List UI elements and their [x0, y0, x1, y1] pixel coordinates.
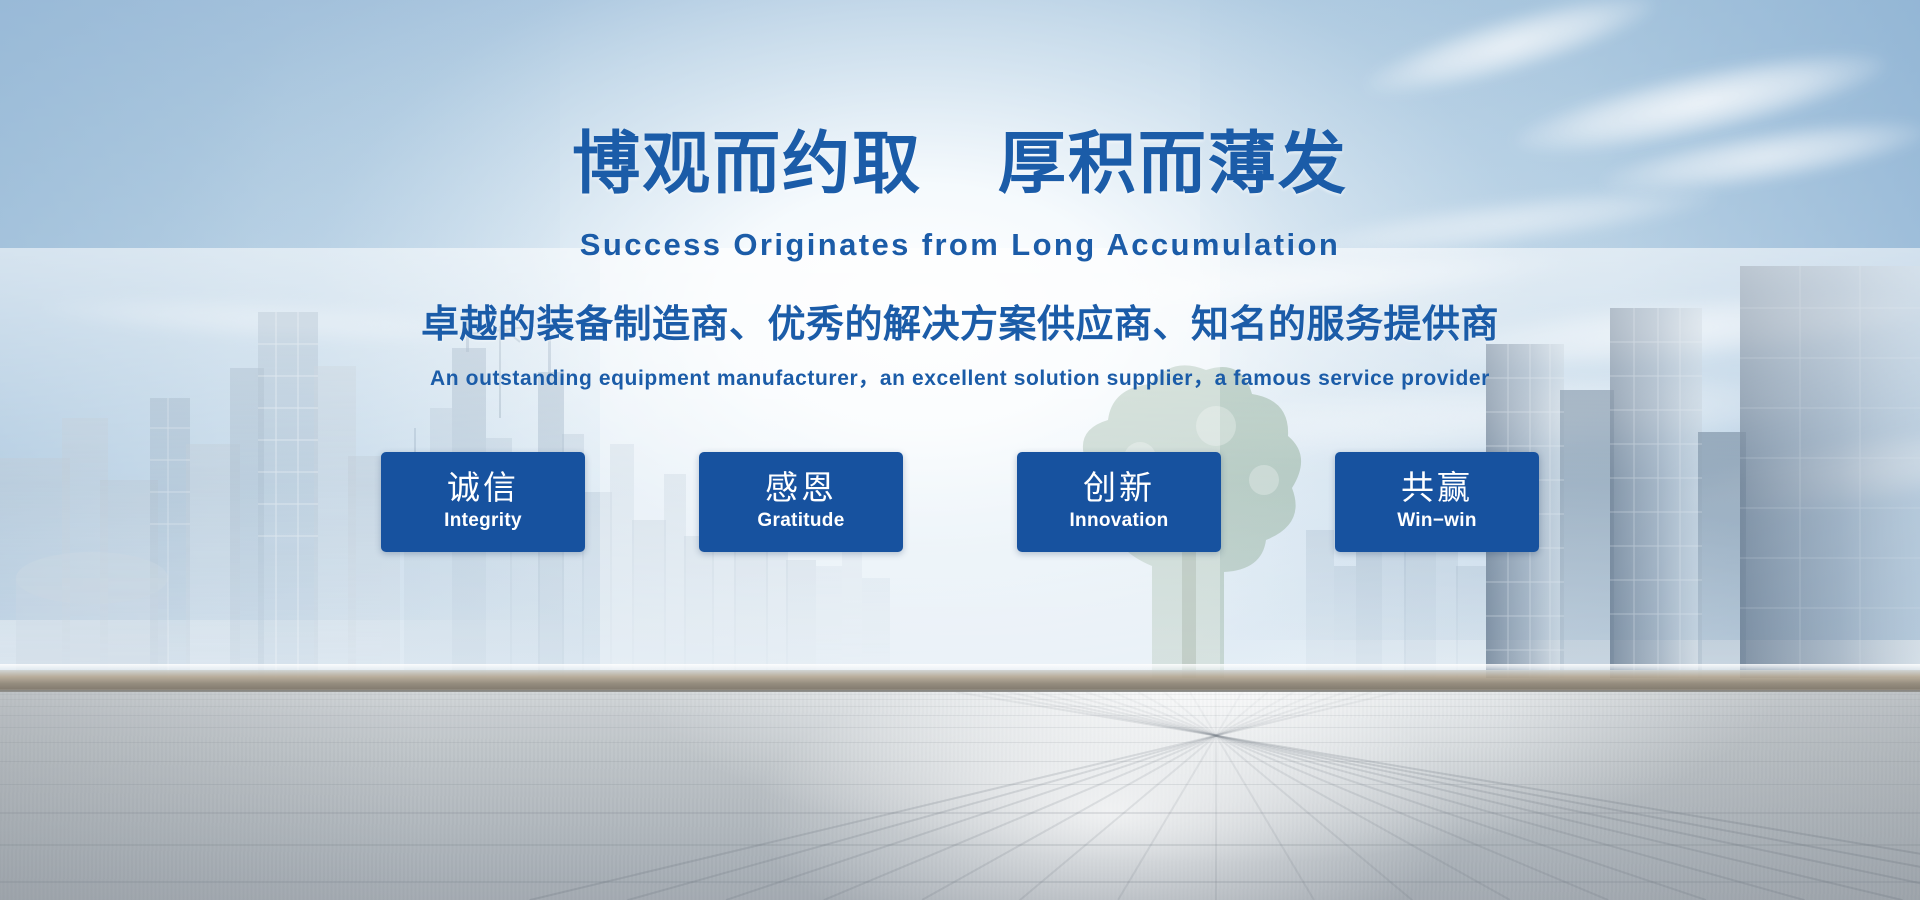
plaza-ground: [0, 692, 1920, 900]
paving-joint-horizontal: [0, 881, 1920, 883]
core-values-row: 诚信Integrity感恩Gratitude创新Innovation共赢Win−…: [0, 452, 1920, 552]
value-card-label-en: Innovation: [1069, 509, 1168, 533]
paving-joint-horizontal: [0, 699, 1920, 700]
paving-joint-horizontal: [0, 727, 1920, 728]
page-title: 博观而约取 厚积而薄发: [0, 130, 1920, 198]
value-card-label-en: Gratitude: [757, 509, 844, 533]
paving-joint-vertical: [1034, 692, 1902, 900]
hero-banner: 博观而约取 厚积而薄发 Success Originates from Long…: [0, 0, 1920, 900]
positioning-statement-cn: 卓越的装备制造商、优秀的解决方案供应商、知名的服务提供商: [0, 306, 1920, 344]
value-card-innovation[interactable]: 创新Innovation: [1017, 452, 1221, 552]
paving-joint-vertical: [1163, 692, 1412, 900]
value-card-win−win[interactable]: 共赢Win−win: [1335, 452, 1539, 552]
paving-joint-horizontal: [0, 706, 1920, 707]
positioning-statement-en: An outstanding equipment manufacturer，an…: [0, 368, 1920, 389]
headline-english-subtitle: Success Originates from Long Accumulatio…: [0, 229, 1920, 260]
paving-joint-vertical: [824, 692, 1321, 900]
value-card-gratitude[interactable]: 感恩Gratitude: [699, 452, 903, 552]
paving-joint-vertical: [922, 692, 1295, 900]
value-card-label-cn: 感恩: [765, 471, 837, 505]
value-card-label-cn: 共赢: [1401, 471, 1473, 505]
horizon-ridge: [0, 670, 1920, 692]
headline-part-2: 厚积而薄发: [998, 126, 1348, 202]
paving-joint-horizontal: [0, 694, 1920, 695]
value-card-label-en: Integrity: [444, 509, 522, 533]
paving-joint-vertical: [1215, 692, 1217, 900]
paving-joint-vertical: [1138, 692, 1511, 900]
paving-joint-vertical: [530, 692, 1398, 900]
value-card-label-cn: 创新: [1083, 471, 1155, 505]
paving-joint-horizontal: [0, 761, 1920, 762]
value-card-label-en: Win−win: [1397, 509, 1477, 533]
paving-joint-horizontal: [0, 784, 1920, 785]
paving-joint-horizontal: [0, 742, 1920, 743]
paving-joint-horizontal: [0, 844, 1920, 846]
value-card-integrity[interactable]: 诚信Integrity: [381, 452, 585, 552]
paving-joint-vertical: [1060, 692, 1805, 900]
paving-joint-horizontal: [0, 715, 1920, 716]
headline-part-1: 博观而约取: [572, 126, 922, 202]
value-card-label-cn: 诚信: [447, 471, 519, 505]
